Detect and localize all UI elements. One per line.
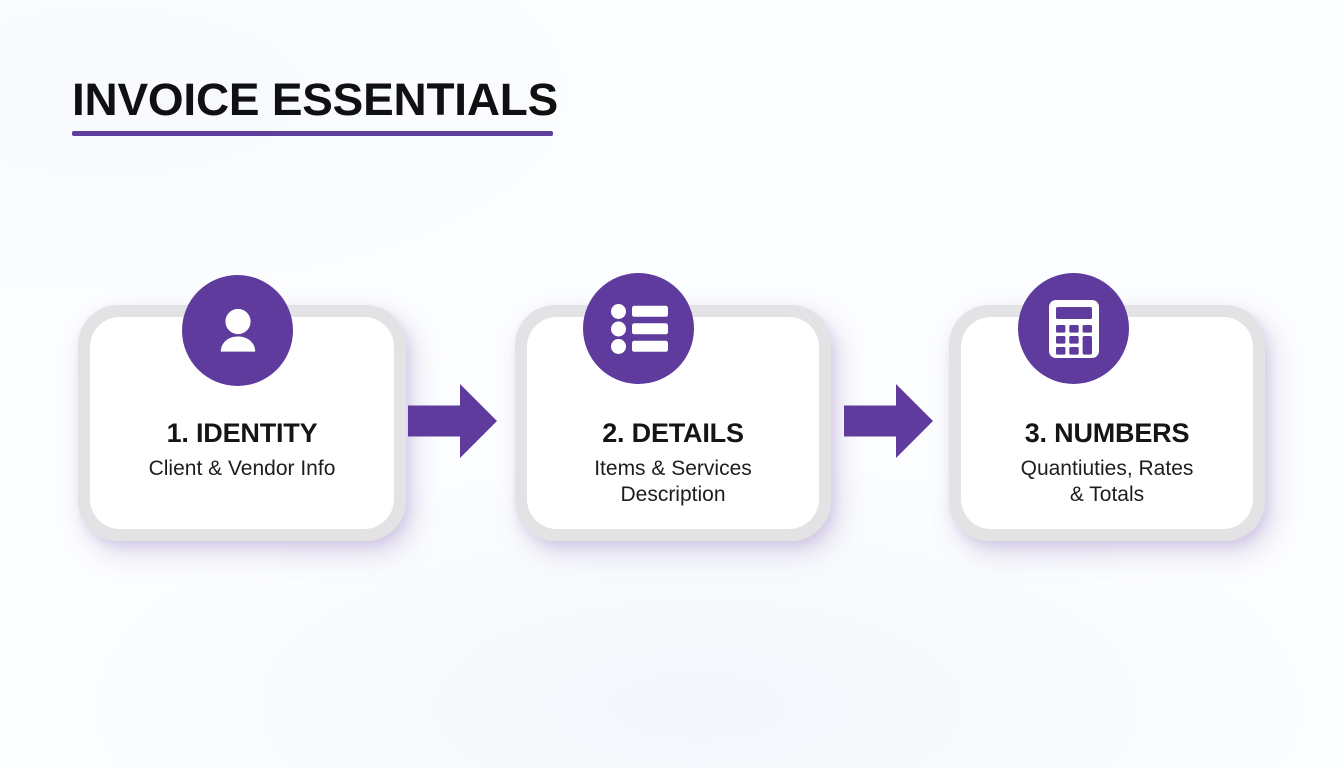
step-card-details-subtitle-line1: Items & Services [529, 456, 817, 482]
step-card-identity-text: 1. IDENTITY Client & Vendor Info [78, 417, 406, 482]
person-icon [209, 302, 267, 360]
bulleted-list-icon [610, 304, 668, 354]
step-card-numbers-subtitle-line2: & Totals [963, 482, 1251, 508]
page-title-block: INVOICE ESSENTIALS [72, 76, 553, 136]
connector-arrow-2 [844, 384, 933, 458]
step-card-identity-title: 1. IDENTITY [92, 417, 392, 449]
page-title: INVOICE ESSENTIALS [72, 76, 563, 124]
step-card-details-title: 2. DETAILS [529, 417, 817, 449]
calculator-icon-badge [1018, 273, 1129, 384]
step-card-details-subtitle-line2: Description [529, 482, 817, 508]
arrow-right-icon [844, 384, 933, 458]
step-card-numbers-title: 3. NUMBERS [963, 417, 1251, 449]
process-flow: 1. IDENTITY Client & Vendor Info 2. DETA… [0, 276, 1344, 566]
step-card-identity-subtitle: Client & Vendor Info [92, 456, 392, 482]
connector-arrow-1 [408, 384, 497, 458]
step-card-numbers-subtitle-line1: Quantiuties, Rates [963, 456, 1251, 482]
person-icon-badge [182, 275, 293, 386]
calculator-icon [1049, 300, 1099, 358]
step-card-details-text: 2. DETAILS Items & Services Description [515, 417, 831, 508]
title-underline-rule [72, 131, 553, 136]
step-card-details-subtitle: Items & Services Description [529, 456, 817, 508]
bulleted-list-icon-badge [583, 273, 694, 384]
step-card-numbers-text: 3. NUMBERS Quantiuties, Rates & Totals [949, 417, 1265, 508]
arrow-right-icon [408, 384, 497, 458]
step-card-numbers-subtitle: Quantiuties, Rates & Totals [963, 456, 1251, 508]
